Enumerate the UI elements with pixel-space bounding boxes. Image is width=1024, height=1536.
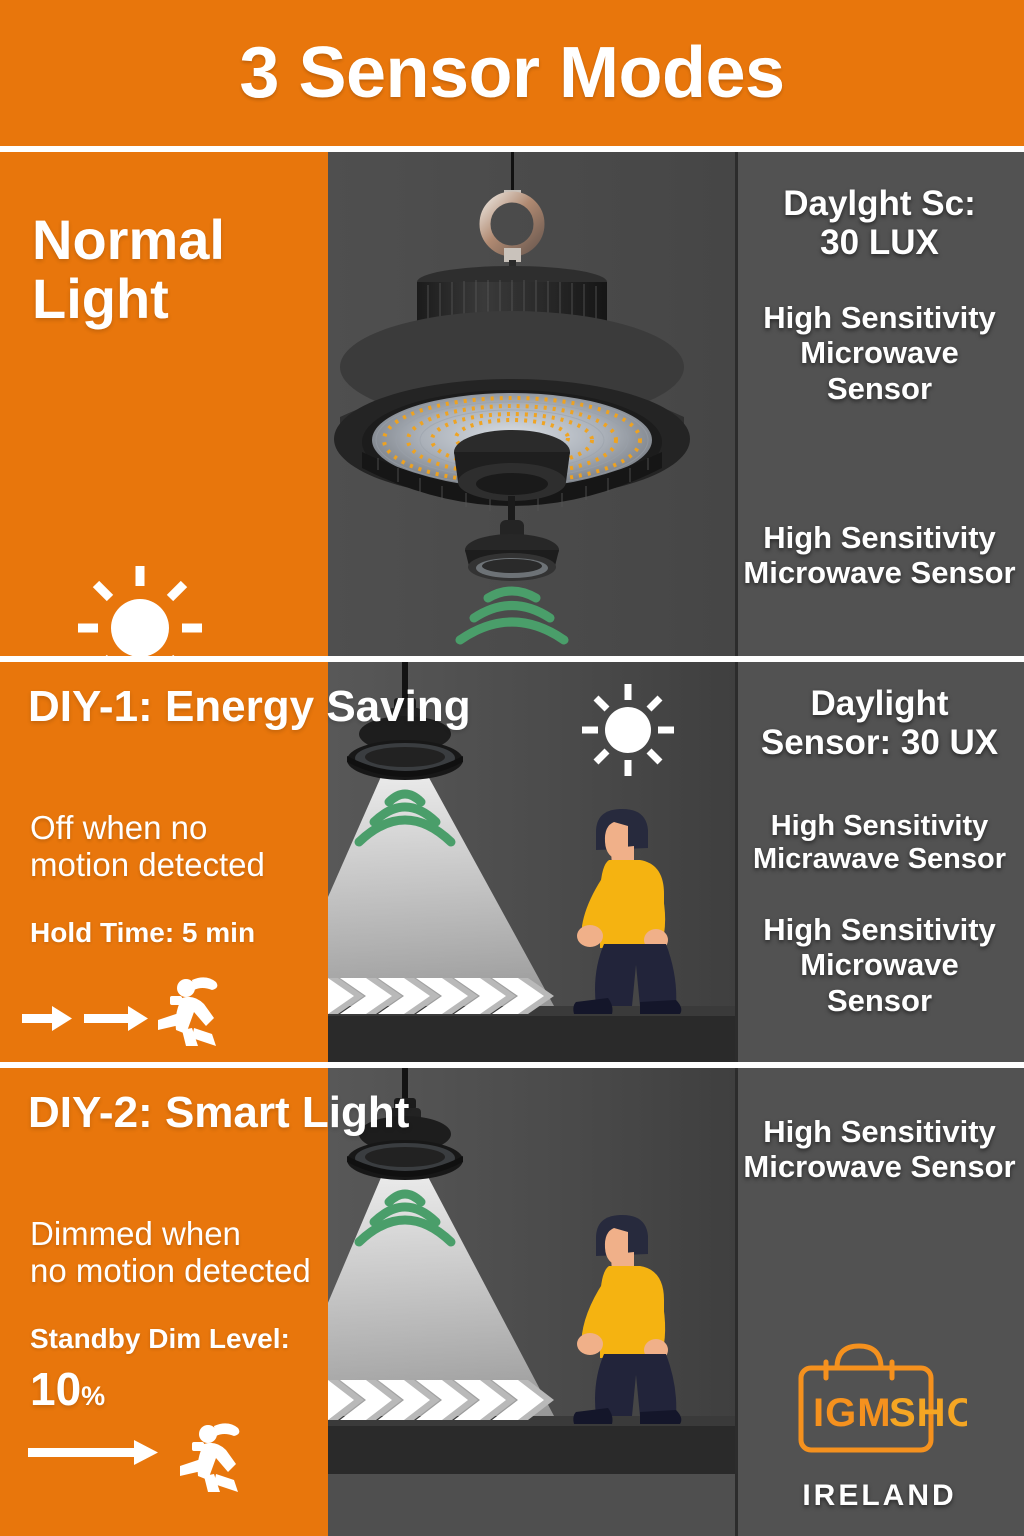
logo-word-shop: SHOP — [889, 1391, 967, 1435]
spec-daylight-sensor: Daylght Sc: 30 LUX — [735, 184, 1024, 262]
section-diy-2-smart-light: DIY-2: Smart Light Dimmed when no motion… — [0, 1068, 1024, 1536]
brand-logo: IGM SHOP IRELAND — [735, 1340, 1024, 1513]
page-title: 3 Sensor Modes — [239, 37, 784, 109]
running-person-icon — [180, 1423, 239, 1492]
spec-panel-normal-light: Daylght Sc: 30 LUX High Sensitivity Micr… — [735, 152, 1024, 656]
mode-title-diy-1: DIY-1: Energy Saving — [28, 684, 471, 731]
divider-section-2-3 — [0, 1062, 1024, 1068]
scene-normal-light — [328, 152, 735, 656]
arrow-long-icon — [84, 1006, 148, 1031]
mode-description-diy-2: Dimmed when no motion detected — [30, 1216, 360, 1290]
infographic-page: 3 Sensor Modes — [0, 0, 1024, 1536]
spec-microwave-sensor-diy2: High Sensitivity Microwave Sensor — [735, 1114, 1024, 1185]
mode-title-diy-2: DIY-2: Smart Light — [28, 1090, 409, 1137]
spec-panel-smart-light: High Sensitivity Microwave Sensor IGM SH… — [735, 1068, 1024, 1536]
logo-word-igm: IGM — [813, 1391, 892, 1435]
mode-description-diy-1: Off when no motion detected — [30, 810, 350, 884]
section-normal-light: Normal Light on D — [0, 152, 1024, 656]
divider-section-1-2 — [0, 656, 1024, 662]
logo-country: IRELAND — [735, 1479, 1024, 1513]
label-panel-normal-light: Normal Light on — [0, 152, 328, 656]
divider-header — [0, 146, 1024, 152]
spec-daylight-sensor-diy1: Daylight Sensor: 30 UX — [735, 684, 1024, 762]
motion-icons-diy-2 — [26, 1416, 316, 1496]
spec-microwave-sensor-1: High Sensitivity Microwave Sensor — [735, 300, 1024, 406]
standby-dim-level-value: 10% — [30, 1362, 105, 1416]
scene-smart-light — [328, 1068, 735, 1536]
mode-title-normal-light: Normal Light — [32, 210, 225, 329]
spec-microwave-sensor-2: High Sensitivity Microwave Sensor — [735, 520, 1024, 591]
spec-microwave-sensor-diy1: High Sensitivity Microwave Sensor — [735, 912, 1024, 1018]
label-panel-energy-saving: DIY-1: Energy Saving Off when no motion … — [0, 662, 328, 1062]
hold-time-label: Hold Time: 5 min — [30, 917, 255, 949]
spec-micrawave-sensor: High Sensitivity Micrawave Sensor — [735, 810, 1024, 876]
spec-panel-energy-saving: Daylight Sensor: 30 UX High Sensitivity … — [735, 662, 1024, 1062]
section-diy-1-energy-saving: DIY-1: Energy Saving Off when no motion … — [0, 662, 1024, 1062]
sun-icon — [72, 560, 208, 656]
running-person-icon — [158, 977, 217, 1046]
arrow-long-icon — [28, 1440, 158, 1465]
motion-icons-diy-1 — [16, 972, 316, 1048]
arrow-short-icon — [22, 1006, 72, 1031]
standby-dim-level-label: Standby Dim Level: — [30, 1323, 290, 1355]
label-panel-smart-light: DIY-2: Smart Light Dimmed when no motion… — [0, 1068, 328, 1536]
header-banner: 3 Sensor Modes — [0, 0, 1024, 146]
ufo-high-bay-light-illustration — [328, 152, 735, 656]
shopping-bag-icon: IGM SHOP — [793, 1340, 967, 1458]
smart-light-illustration — [328, 1068, 735, 1536]
